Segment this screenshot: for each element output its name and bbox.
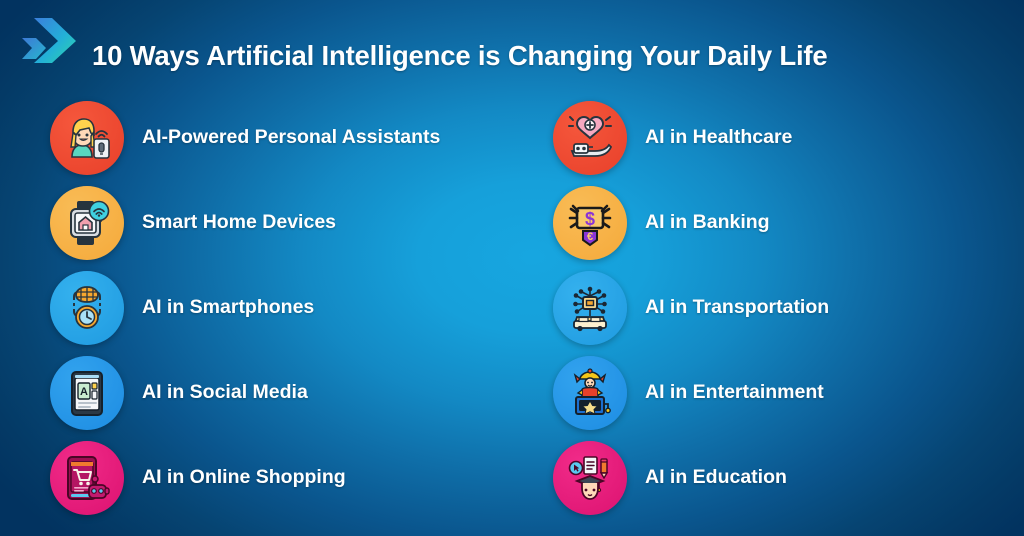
header: 10 Ways Artificial Intelligence is Chang… [0, 0, 1024, 96]
right-column: AI in Healthcare $ € AI in Banking [553, 96, 1023, 536]
heart-cross-robotic-hand-icon [553, 101, 627, 175]
list-item[interactable]: AI-Powered Personal Assistants [50, 98, 520, 178]
neural-network-car-icon [553, 271, 627, 345]
list-item-label: AI in Healthcare [645, 128, 792, 148]
personal-assistant-smart-speaker-icon [50, 101, 124, 175]
list-item-label: AI in Social Media [142, 383, 308, 403]
brain-clock-cycle-icon [50, 271, 124, 345]
smartphone-social-feed-icon: A [50, 356, 124, 430]
list-item[interactable]: A AI in Social Media [50, 353, 520, 433]
svg-text:A: A [80, 386, 88, 398]
list-item-label: AI in Online Shopping [142, 468, 346, 488]
graduate-document-pencil-icon [553, 441, 627, 515]
svg-text:$: $ [585, 209, 595, 229]
page-title: 10 Ways Artificial Intelligence is Chang… [92, 40, 827, 72]
list-item-label: AI in Banking [645, 213, 770, 233]
double-chevron-logo-icon [18, 16, 80, 68]
list-item[interactable]: AI in Healthcare [553, 98, 1023, 178]
list-item[interactable]: AI in Smartphones [50, 268, 520, 348]
list-item[interactable]: AI in Online Shopping [50, 438, 520, 518]
items-grid: AI-Powered Personal Assistants [0, 96, 1024, 536]
list-item-label: AI in Entertainment [645, 383, 824, 403]
list-item[interactable]: AI in Entertainment [553, 353, 1023, 433]
shopping-cart-robot-icon [50, 441, 124, 515]
list-item[interactable]: $ € AI in Banking [553, 183, 1023, 263]
list-item[interactable]: AI in Education [553, 438, 1023, 518]
chip-dollar-euro-icon: $ € [553, 186, 627, 260]
svg-text:€: € [587, 231, 593, 243]
list-item-label: AI-Powered Personal Assistants [142, 128, 440, 148]
smartwatch-home-wifi-icon [50, 186, 124, 260]
list-item-label: AI in Transportation [645, 298, 829, 318]
jack-in-the-box-jester-icon [553, 356, 627, 430]
list-item-label: AI in Smartphones [142, 298, 314, 318]
list-item-label: Smart Home Devices [142, 213, 336, 233]
left-column: AI-Powered Personal Assistants [50, 96, 520, 536]
list-item[interactable]: AI in Transportation [553, 268, 1023, 348]
list-item[interactable]: Smart Home Devices [50, 183, 520, 263]
list-item-label: AI in Education [645, 468, 787, 488]
infographic-slide: 10 Ways Artificial Intelligence is Chang… [0, 0, 1024, 536]
